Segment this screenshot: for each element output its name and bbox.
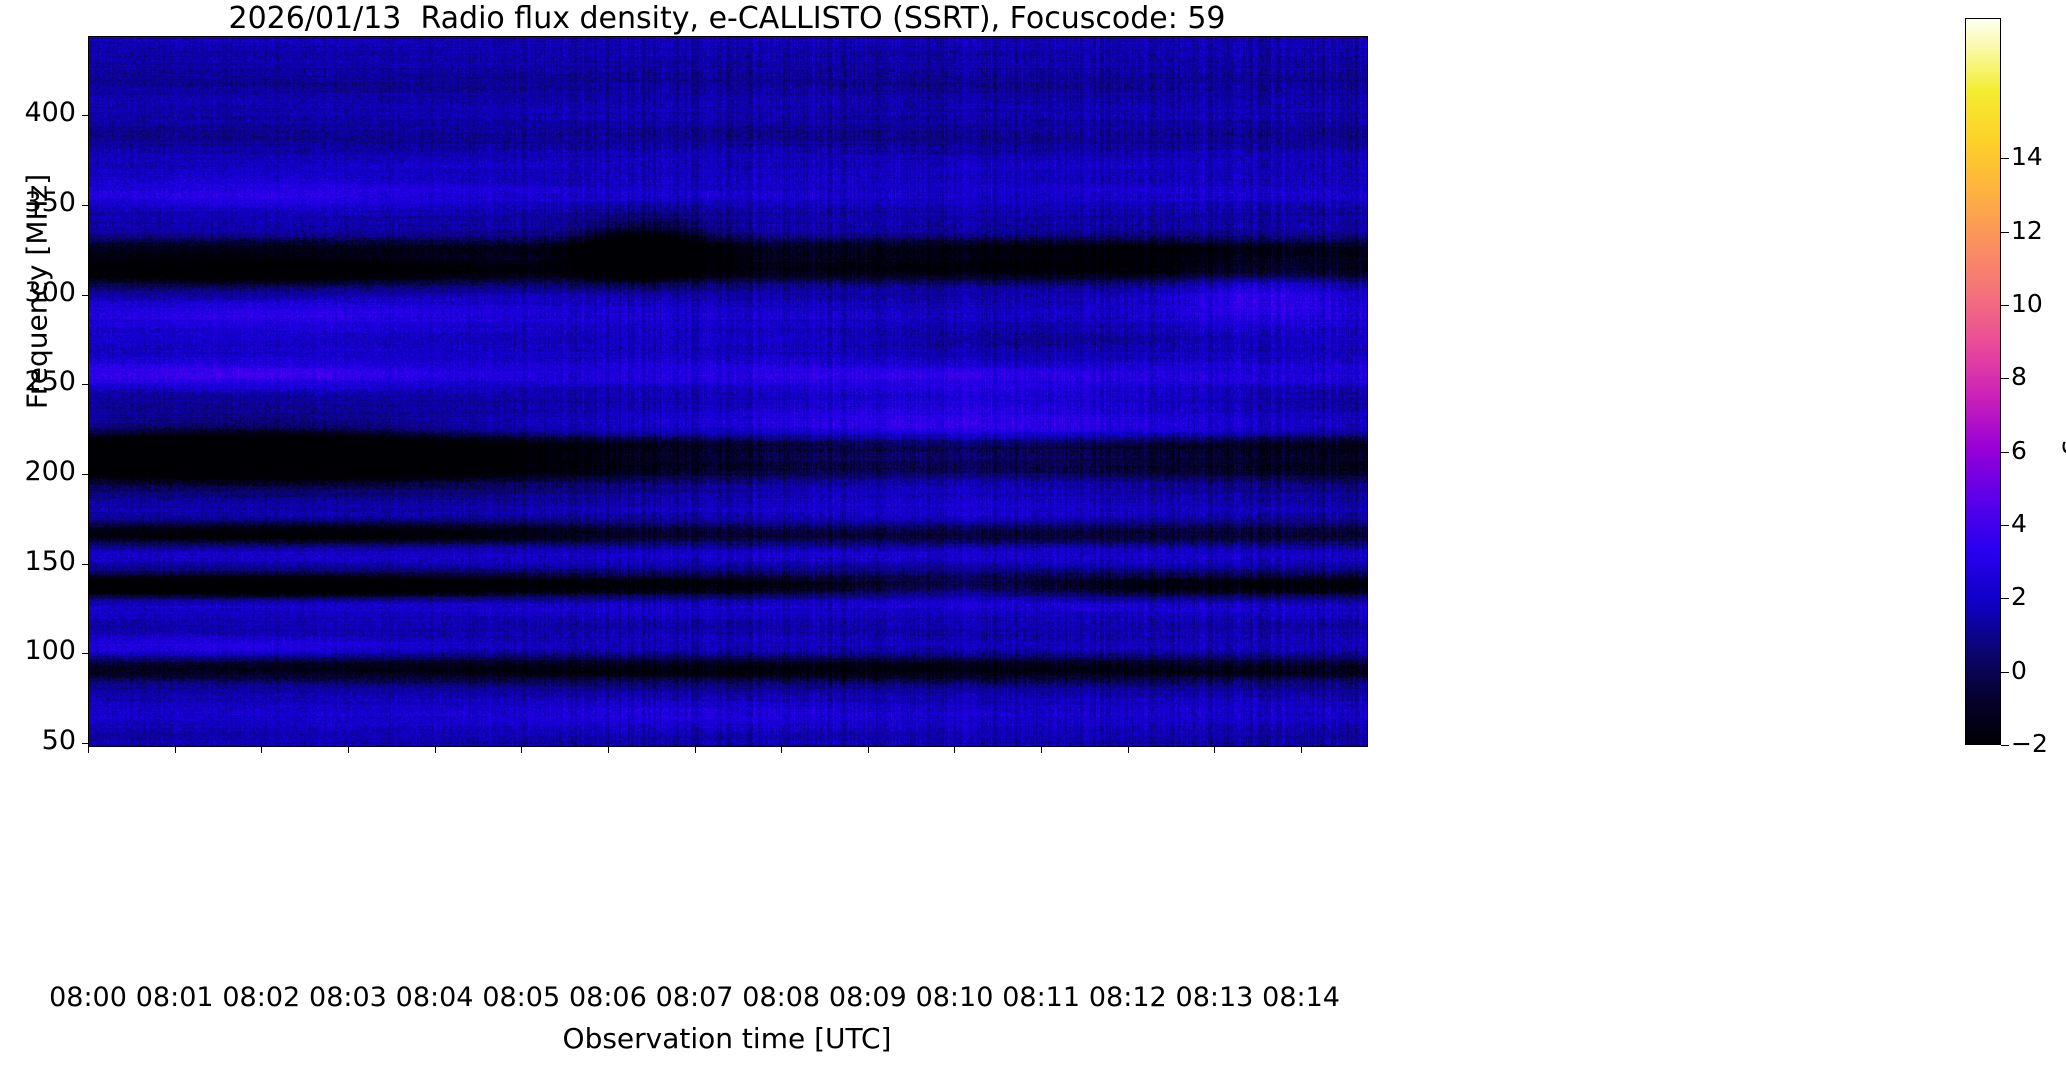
x-tick-mark [781,746,782,753]
x-tick-mark [1214,746,1215,753]
x-tick-mark [175,746,176,753]
y-tick-label: 350 [0,187,76,218]
colorbar-tick-label: 6 [2011,436,2027,465]
y-tick-label: 400 [0,97,76,128]
colorbar-tick-mark [2001,745,2009,746]
colorbar-tick-label: 0 [2011,656,2027,685]
x-tick-mark [1041,746,1042,753]
x-tick-mark [521,746,522,753]
colorbar-tick-label: 8 [2011,362,2027,391]
colorbar-tick-mark [2001,232,2009,233]
y-tick-label: 150 [0,546,76,577]
colorbar-tick-mark [2001,598,2009,599]
x-tick-mark [348,746,349,753]
x-tick-mark [1128,746,1129,753]
page-title: 2026/01/13 Radio flux density, e-CALLIST… [88,2,1366,36]
x-tick-mark [435,746,436,753]
colorbar-tick-mark [2001,672,2009,673]
x-tick-mark [695,746,696,753]
colorbar-tick-label: 14 [2011,142,2043,171]
x-axis-title: Observation time [UTC] [88,1022,1366,1055]
colorbar-tick-label: 12 [2011,216,2043,245]
colorbar-tick-mark [2001,452,2009,453]
colorbar-gradient [1965,18,2001,745]
colorbar-tick-label: 2 [2011,582,2027,611]
y-tick-label: 200 [0,456,76,487]
y-tick-label: 50 [0,725,76,756]
x-tick-mark [261,746,262,753]
colorbar: 14121086420−2 [1965,18,2001,745]
colorbar-title: dB above background [2062,155,2066,615]
x-tick-mark [1301,746,1302,753]
x-tick-label: 08:14 [1241,982,1361,1013]
x-tick-mark [868,746,869,753]
x-tick-mark [608,746,609,753]
spectrogram-plot-area[interactable] [88,36,1368,747]
y-tick-label: 250 [0,366,76,397]
colorbar-tick-label: 4 [2011,509,2027,538]
colorbar-tick-mark [2001,158,2009,159]
colorbar-tick-mark [2001,305,2009,306]
colorbar-tick-mark [2001,378,2009,379]
colorbar-tick-label: 10 [2011,289,2043,318]
y-tick-label: 100 [0,635,76,666]
x-tick-mark [954,746,955,753]
y-tick-label: 300 [0,277,76,308]
spectrogram-figure: 2026/01/13 Radio flux density, e-CALLIST… [0,0,2066,1067]
x-tick-mark [88,746,89,753]
spectrogram-image [89,37,1367,746]
colorbar-tick-label: −2 [2011,729,2048,758]
colorbar-tick-mark [2001,525,2009,526]
